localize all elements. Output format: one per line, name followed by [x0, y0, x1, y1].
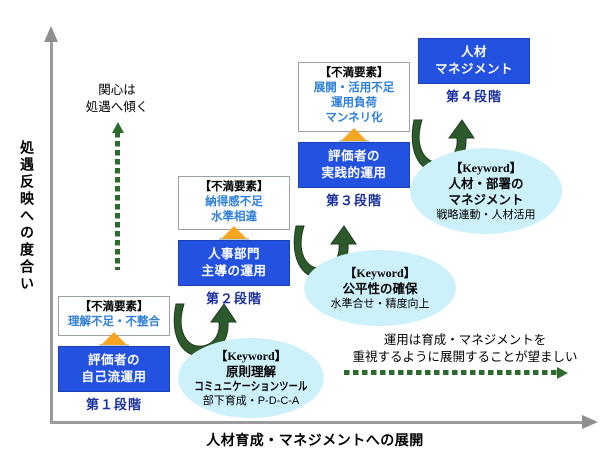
dissatisfaction-box-stage-1: 【不満要素】 理解不足・不整合	[58, 296, 170, 336]
desire-note: 運用は育成・マネジメントを 重視するように展開することが望ましい	[340, 332, 590, 366]
stage-box-stage-4[interactable]: 人材 マネジメント	[418, 38, 530, 84]
keyword-bubble-2: 【Keyword】 公平性の確保 水準合せ・精度向上	[304, 250, 456, 326]
dissatisfaction-line: 水準相違	[183, 210, 285, 225]
interest-note-line2: 処遇へ傾く	[62, 99, 172, 116]
dissatisfaction-box-stage-3: 【不満要素】 展開・活用不足 運用負荷 マンネリ化	[298, 62, 410, 132]
dissatisfaction-line: 納得感不足	[183, 195, 285, 210]
stage-box-stage-3[interactable]: 評価者の 実践的運用	[298, 142, 410, 188]
stage-caption-stage-1: 第１段階	[58, 394, 170, 413]
stage-box-line1: 評価者の	[59, 352, 169, 369]
dissatisfaction-line: マンネリ化	[303, 111, 405, 126]
keyword-narrow: マネジメント	[448, 192, 523, 208]
up-triangle-icon-stage-2	[221, 226, 247, 239]
keyword-main: 公平性の確保	[342, 281, 417, 297]
dissatisfaction-header: 【不満要素】	[183, 180, 285, 195]
stage-caption-stage-2: 第２段階	[178, 288, 290, 307]
stage-box-line1: 人材	[419, 44, 529, 61]
diagram-canvas: 処遇反映への度合い 人材育成・マネジメントへの展開 関心は 処遇へ傾く 【不満要…	[0, 0, 610, 472]
y-axis-line	[50, 40, 53, 424]
dissatisfaction-line: 理解不足・不整合	[63, 315, 165, 330]
keyword-title: 【Keyword】	[344, 266, 415, 281]
stage-caption-stage-4: 第４段階	[418, 86, 530, 105]
x-axis-arrowhead-icon	[582, 415, 598, 429]
keyword-bubble-3: 【Keyword】 人材・部署の マネジメント 戦略連動・人材活用	[410, 148, 562, 234]
desire-arrow-shaft-icon	[344, 370, 558, 375]
stage-caption-stage-3: 第３段階	[298, 190, 410, 209]
dissatisfaction-line: 展開・活用不足	[303, 81, 405, 96]
keyword-narrow: コミュニケーションツール	[195, 380, 308, 394]
up-triangle-icon-stage-3	[341, 128, 367, 141]
dissatisfaction-line: 運用負荷	[303, 96, 405, 111]
stage-box-stage-1[interactable]: 評価者の 自己流運用	[58, 346, 170, 392]
dissatisfaction-header: 【不満要素】	[303, 66, 405, 81]
interest-note: 関心は 処遇へ傾く	[62, 82, 172, 116]
desire-note-line2: 重視するように展開することが望ましい	[340, 349, 590, 366]
keyword-sub: 水準合せ・精度向上	[331, 297, 430, 311]
keyword-main: 人材・部署の	[448, 176, 523, 192]
stage-box-line2: 自己流運用	[59, 369, 169, 386]
desire-arrow-head-icon	[557, 367, 568, 379]
stage-box-line1: 人事部門	[179, 246, 289, 263]
keyword-title: 【Keyword】	[215, 349, 286, 364]
keyword-bubble-1: 【Keyword】 原則理解 コミュニケーションツール 部下育成・P-D-C-A	[178, 338, 324, 418]
y-axis-label: 処遇反映への度合い	[14, 140, 40, 293]
desire-note-line1: 運用は育成・マネジメントを	[340, 332, 590, 349]
dissatisfaction-header: 【不満要素】	[63, 300, 165, 315]
keyword-sub: 戦略連動・人材活用	[437, 208, 536, 222]
stage-box-stage-2[interactable]: 人事部門 主導の運用	[178, 240, 290, 286]
x-axis-line	[50, 421, 584, 424]
keyword-sub: 部下育成・P-D-C-A	[203, 394, 300, 408]
stage-box-line2: マネジメント	[419, 61, 529, 78]
stage-box-line1: 評価者の	[299, 148, 409, 165]
x-axis-label: 人材育成・マネジメントへの展開	[150, 430, 480, 450]
y-axis-arrowhead-icon	[44, 26, 58, 42]
interest-note-line1: 関心は	[62, 82, 172, 99]
keyword-title: 【Keyword】	[450, 161, 521, 176]
keyword-main: 原則理解	[226, 364, 276, 380]
interest-arrow-shaft-icon	[115, 132, 120, 270]
dissatisfaction-box-stage-2: 【不満要素】 納得感不足 水準相違	[178, 176, 290, 230]
up-triangle-icon-stage-1	[101, 332, 127, 345]
stage-box-line2: 主導の運用	[179, 263, 289, 280]
stage-box-line2: 実践的運用	[299, 165, 409, 182]
